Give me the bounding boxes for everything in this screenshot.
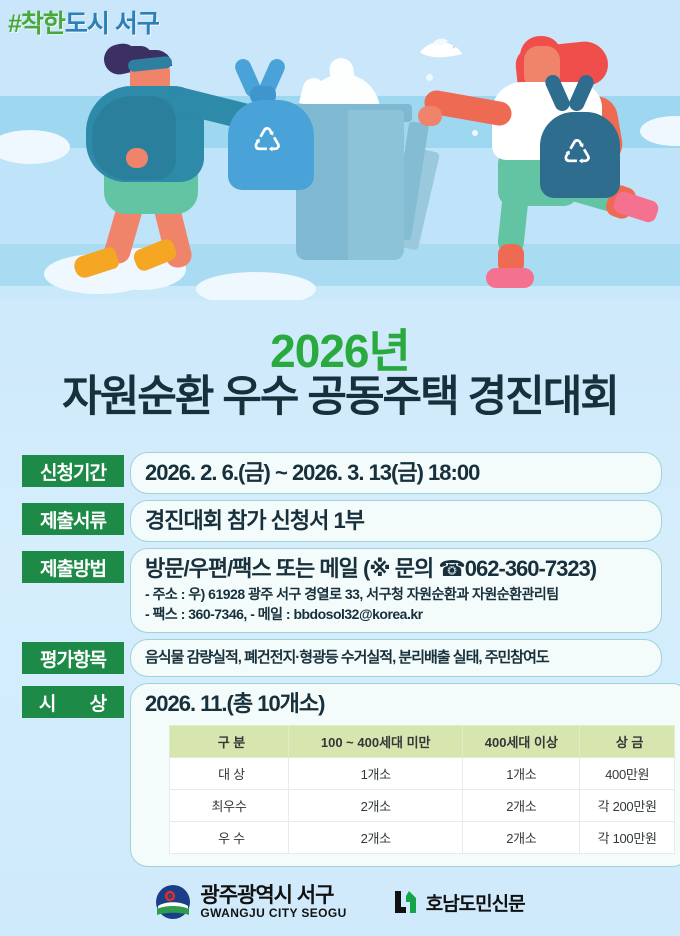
dove-icon [416,36,464,62]
award-col-prize: 상 금 [580,726,675,758]
recycle-icon: ♺ [252,124,282,158]
right-person-hand [418,106,442,126]
value-evaluation-items: 음식물 감량실적, 폐건전지·형광등 수거실적, 분리배출 실태, 주민참여도 [145,645,647,671]
brand-green-text: 착한 [21,10,65,38]
right-person-shoe [486,268,534,288]
gwangju-name-en: GWANGJU CITY SEOGU [200,907,346,920]
cloud-icon [196,272,316,300]
gwangju-seogu-logo: 광주광역시 서구 GWANGJU CITY SEOGU [155,884,346,920]
award-cell-prize: 각 100만원 [580,822,675,854]
gwangju-name-ko: 광주광역시 서구 [200,885,346,907]
row-documents: 제출서류 경진대회 참가 신청서 1부 [22,500,662,542]
footer: 광주광역시 서구 GWANGJU CITY SEOGU 호남도민신문 [0,872,680,932]
award-col-category: 구 분 [170,726,289,758]
value-application-period: 2026. 2. 6.(금) ~ 2026. 3. 13(금) 18:00 [145,458,647,488]
award-cell-category: 우 수 [170,822,289,854]
label-awards: 시 상 [22,686,124,718]
snow-dot-icon [198,282,207,291]
brand-logo: #착한도시 서구 [8,4,159,40]
label-documents: 제출서류 [22,503,124,535]
brand-blue-text: 도시 서구 [65,10,159,38]
award-col-small-complex: 100 ~ 400세대 미만 [289,726,463,758]
field-documents: 경진대회 참가 신청서 1부 [130,500,662,542]
award-cell-large: 1개소 [463,758,580,790]
award-cell-prize: 각 200만원 [580,790,675,822]
snow-dot-icon [426,74,433,81]
right-recycling-bag: ♺ [540,112,620,198]
poster-root: ♺ ♺ #착한도시 서구 2026년 자원순환 우수 공동주택 [0,0,680,936]
brand-hash: # [8,10,21,38]
honam-press-name: 호남도민신문 [426,889,525,916]
award-cell-large: 2개소 [463,822,580,854]
award-cell-small: 2개소 [289,790,463,822]
gwangju-emblem-icon [155,884,191,920]
value-submission-method: 방문/우편/팩스 또는 메일 (※ 문의 ☎062-360-7323) [145,554,647,584]
row-submission-method: 제출방법 방문/우편/팩스 또는 메일 (※ 문의 ☎062-360-7323)… [22,548,662,633]
field-application-period: 2026. 2. 6.(금) ~ 2026. 3. 13(금) 18:00 [130,452,662,494]
row-evaluation-items: 평가항목 음식물 감량실적, 폐건전지·형광등 수거실적, 분리배출 실태, 주… [22,639,662,677]
header-illustration: ♺ ♺ [0,0,680,300]
table-row: 대 상 1개소 1개소 400만원 [170,758,675,790]
award-table: 구 분 100 ~ 400세대 미만 400세대 이상 상 금 대 상 1개소 … [169,725,675,854]
left-person-hand [126,148,148,168]
value-awards-date: 2026. 11.(총 10개소) [145,689,675,719]
field-evaluation-items: 음식물 감량실적, 폐건전지·형광등 수거실적, 분리배출 실태, 주민참여도 [130,639,662,677]
gwangju-logo-text: 광주광역시 서구 GWANGJU CITY SEOGU [200,885,346,920]
value-submission-fax-mail: - 팩스 : 360-7346, - 메일 : bbdosol32@korea.… [145,604,647,624]
award-table-header-row: 구 분 100 ~ 400세대 미만 400세대 이상 상 금 [170,726,675,758]
table-row: 최우수 2개소 2개소 각 200만원 [170,790,675,822]
award-cell-small: 1개소 [289,758,463,790]
row-awards: 시 상 2026. 11.(총 10개소) 구 분 100 ~ 400세대 미만… [22,683,662,867]
award-cell-small: 2개소 [289,822,463,854]
recycle-icon: ♺ [562,136,592,170]
table-row: 우 수 2개소 2개소 각 100만원 [170,822,675,854]
award-cell-prize: 400만원 [580,758,675,790]
award-cell-category: 대 상 [170,758,289,790]
label-submission-method: 제출방법 [22,551,124,583]
value-submission-address: - 주소 : 우) 61928 광주 서구 경열로 33, 서구청 자원순환과 … [145,584,647,604]
value-documents: 경진대회 참가 신청서 1부 [145,506,647,536]
honam-mark-icon [393,889,419,915]
award-col-large-complex: 400세대 이상 [463,726,580,758]
page-title: 자원순환 우수 공동주택 경진대회 [0,362,680,424]
field-submission-method: 방문/우편/팩스 또는 메일 (※ 문의 ☎062-360-7323) - 주소… [130,548,662,633]
left-recycling-bag: ♺ [228,100,314,190]
label-evaluation-items: 평가항목 [22,642,124,674]
award-cell-category: 최우수 [170,790,289,822]
honam-press-logo: 호남도민신문 [393,889,525,916]
snow-dot-icon [472,130,478,136]
label-application-period: 신청기간 [22,455,124,487]
award-cell-large: 2개소 [463,790,580,822]
row-application-period: 신청기간 2026. 2. 6.(금) ~ 2026. 3. 13(금) 18:… [22,452,662,494]
info-rows: 신청기간 2026. 2. 6.(금) ~ 2026. 3. 13(금) 18:… [22,452,662,873]
field-awards: 2026. 11.(총 10개소) 구 분 100 ~ 400세대 미만 400… [130,683,680,867]
